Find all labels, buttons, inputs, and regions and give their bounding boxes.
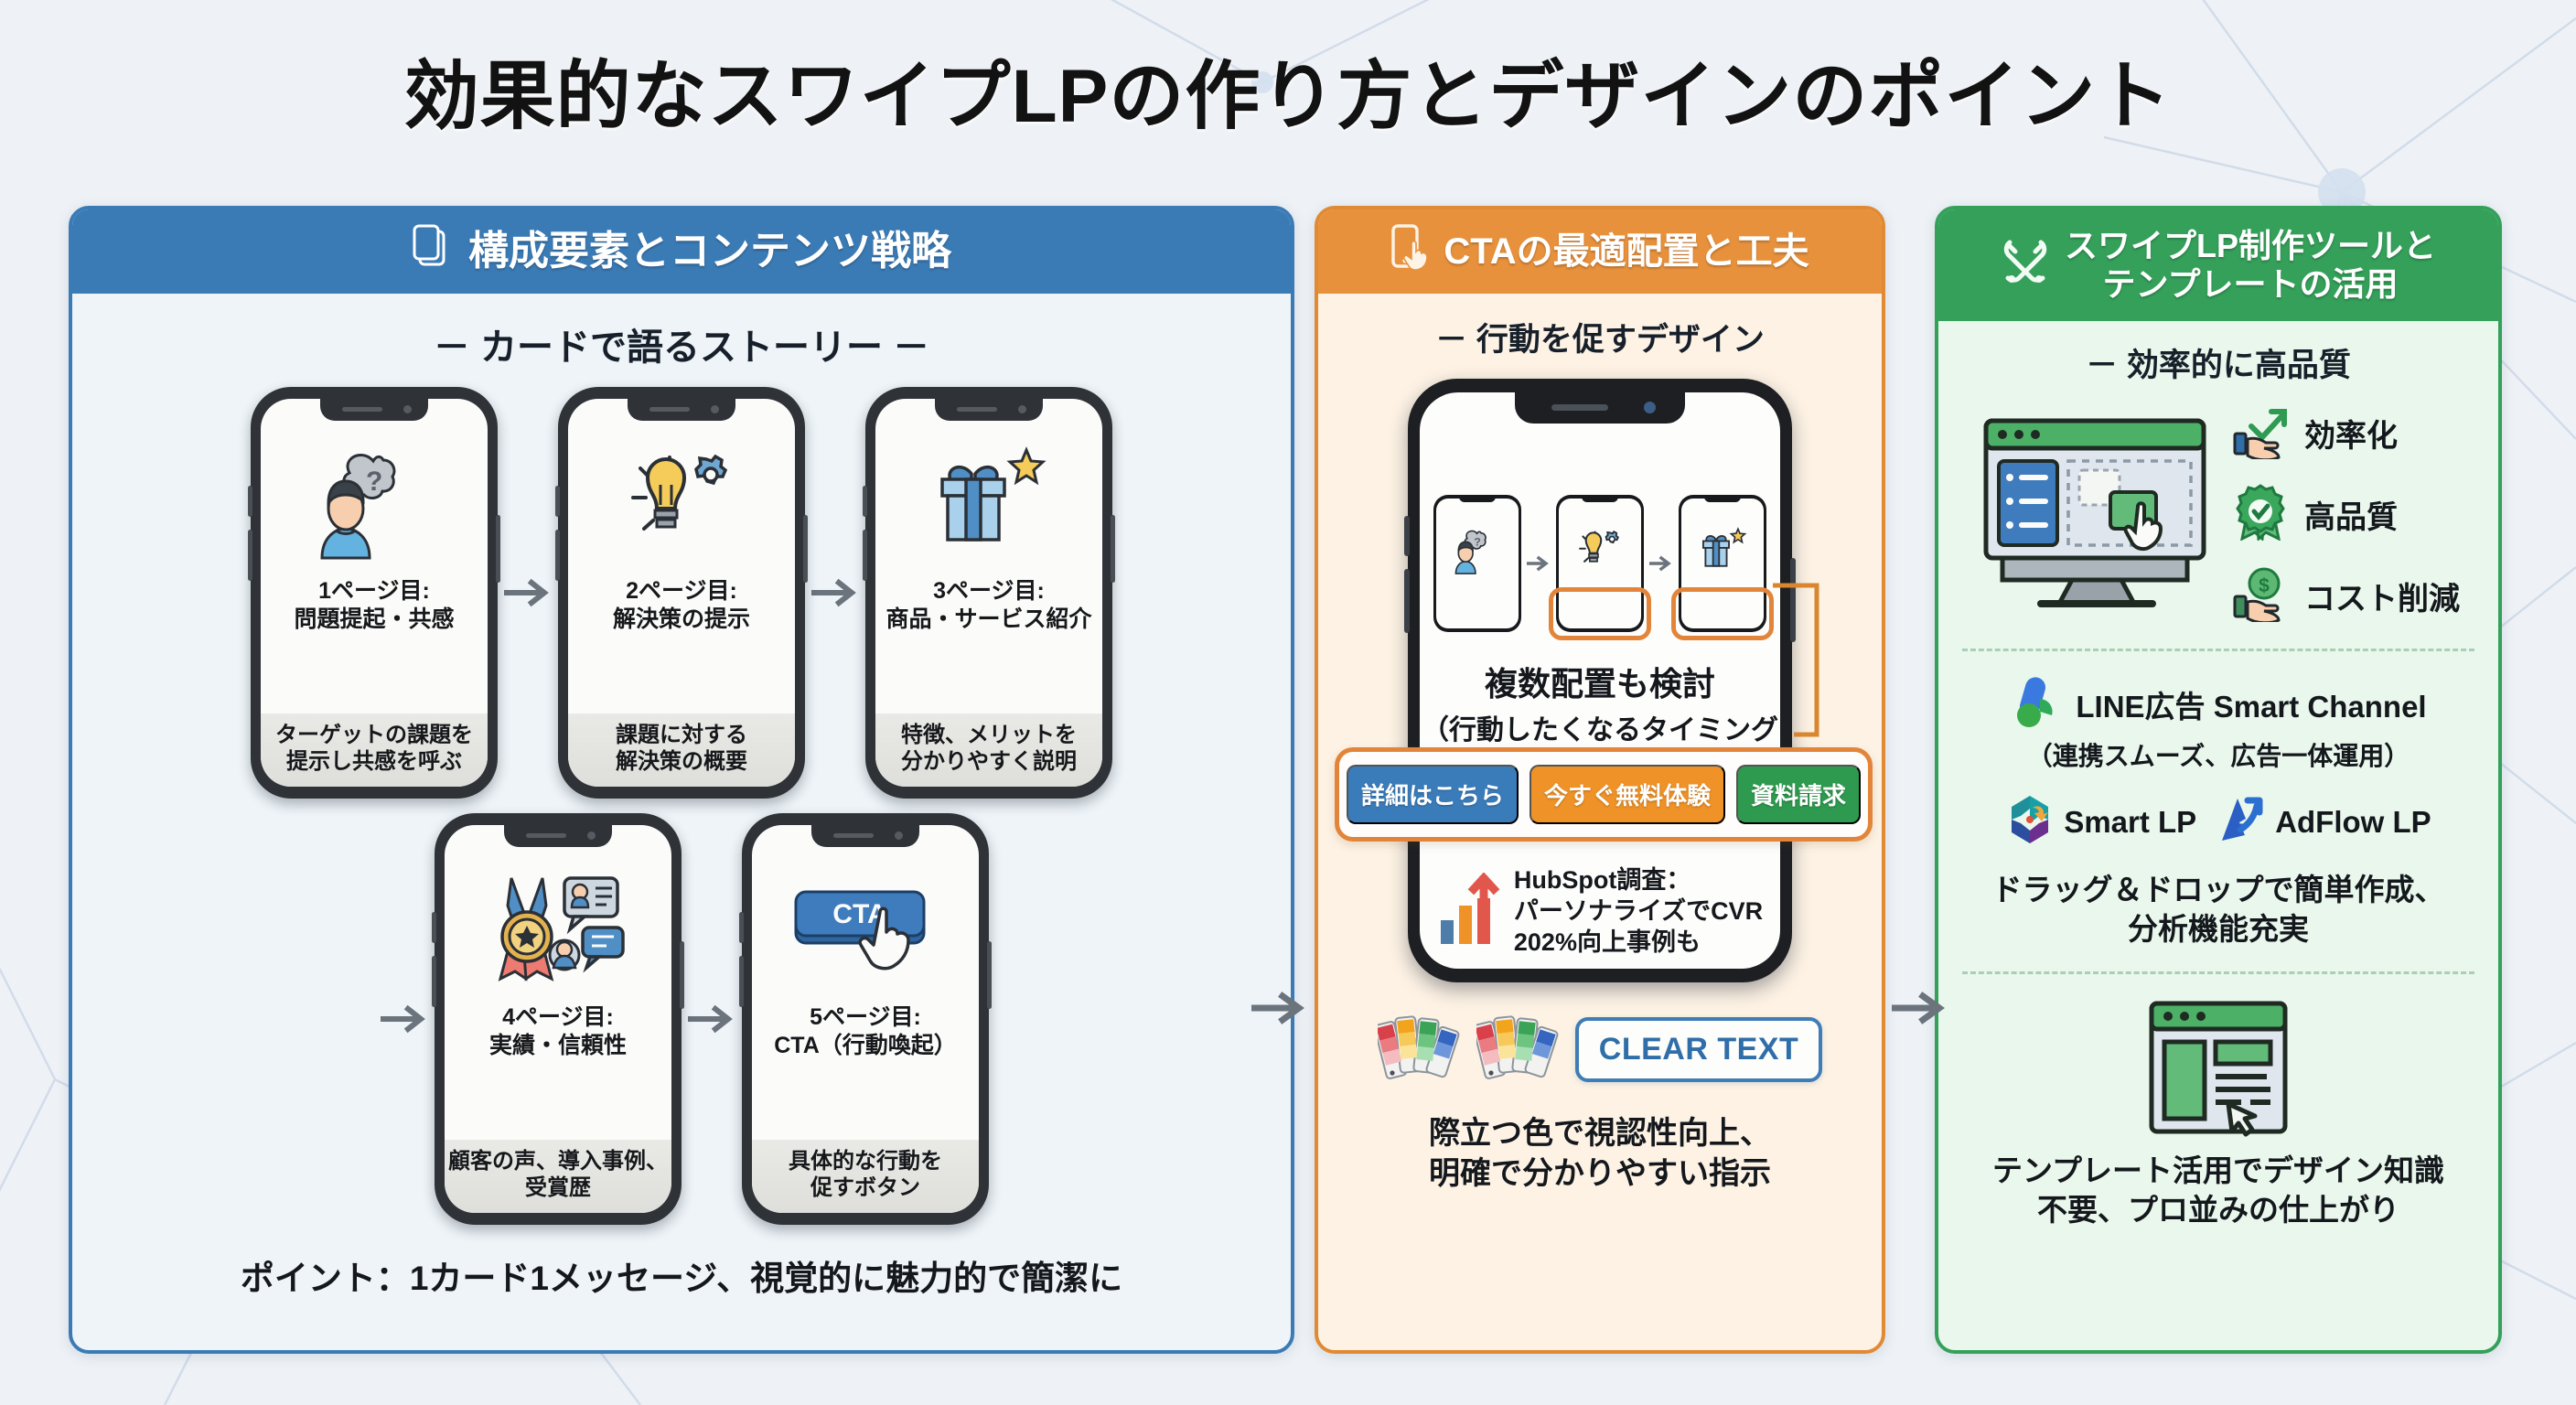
panel3-bottom-section: テンプレート活用でデザイン知識 不要、プロ並みの仕上がり <box>1938 996 2498 1230</box>
arrow-card4-to-card5 <box>682 1003 742 1035</box>
mini-phone-notch <box>1459 495 1496 502</box>
brand-line-sub: （連携スムーズ、広告一体運用） <box>1938 736 2498 773</box>
mini-card-1[interactable]: ? <box>1433 495 1521 632</box>
card-page5-caption: 具体的な行動を 促すボタン <box>752 1140 979 1214</box>
phone-button-left-top <box>1404 516 1410 556</box>
template-page-icon <box>1938 996 2498 1142</box>
panel2-header-label: CTAの最適配置と工夫 <box>1444 231 1809 273</box>
cta-button-cursor-icon: CTA <box>752 825 979 1003</box>
cta-button-request-docs[interactable]: 資料請求 <box>1736 765 1861 824</box>
card-page4[interactable]: 4ページ目: 実績・信頼性 顧客の声、導入事例、 受賞歴 <box>435 813 682 1225</box>
mini-phone-notch <box>1582 495 1618 502</box>
panel1-subtitle: － カードで語るストーリー － <box>72 317 1291 370</box>
hand-arrow-up-icon <box>2233 402 2293 464</box>
phone-button-left-top <box>555 486 560 517</box>
phone-button-right <box>1111 515 1115 583</box>
card-page3-title: 3ページ目: 商品・サービス紹介 <box>875 577 1102 713</box>
brand-smart-lp: Smart LP <box>2005 793 2196 851</box>
color-swatch-icon-2 <box>1476 1008 1561 1091</box>
phone-notch <box>504 825 612 847</box>
brand-line-icon: LINE広告 Smart Channel <box>1938 673 2498 735</box>
phone-button-right <box>680 941 684 1009</box>
arrow-card2-to-card3 <box>805 577 865 608</box>
cta-buttons-card: 詳細はこちら 今すぐ無料体験 資料請求 <box>1335 747 1873 842</box>
tools-wrench-icon <box>2001 235 2050 296</box>
phone-notch <box>811 825 919 847</box>
phone-button-right <box>987 941 992 1009</box>
gift-star-icon <box>1681 499 1764 600</box>
phone-button-left-top <box>863 486 867 517</box>
brand-smart-lp-name: Smart LP <box>2064 805 2196 840</box>
person-thinking-icon: ? <box>1436 499 1519 600</box>
arrow-mini1-to-mini2 <box>1525 555 1552 572</box>
panel3-template-note: テンプレート活用でデザイン知識 不要、プロ並みの仕上がり <box>1938 1152 2498 1230</box>
panel3-divider-1 <box>1962 649 2474 651</box>
cta-button-free-trial[interactable]: 今すぐ無料体験 <box>1529 765 1725 824</box>
panel2-header: CTAの最適配置と工夫 <box>1318 209 1882 294</box>
swatch-and-cleartext-row: CLEAR TEXT <box>1318 1008 1882 1091</box>
arrow-card1-to-card2 <box>498 577 558 608</box>
brand-row-2: Smart LP AdFlow LP <box>1938 793 2498 851</box>
phone-button-left-top <box>248 486 252 517</box>
panel3-header-label: スワイプLP制作ツールと テンプレートの活用 <box>2065 227 2436 304</box>
panel2-body: － 行動を促すデザイン <box>1318 314 1882 1194</box>
brand-line-name: LINE広告 Smart Channel <box>2076 682 2426 726</box>
phone-button-left-bottom <box>555 530 560 581</box>
panel-tools-templates: スワイプLP制作ツールと テンプレートの活用 － 効率的に高品質 <box>1935 206 2502 1354</box>
phone-button-left-bottom <box>248 530 252 581</box>
cards-stack-icon <box>412 223 454 279</box>
arrow-card3-to-card4 <box>374 1003 435 1035</box>
card-page1[interactable]: ? 1ページ目: 問題提起・共感 <box>251 387 498 799</box>
clear-text-badge: CLEAR TEXT <box>1575 1017 1822 1082</box>
phone-button-left-bottom <box>739 956 744 1007</box>
hand-coin-icon: $ <box>2233 565 2293 627</box>
phone-mockup-cta: ? <box>1408 379 1792 982</box>
panel1-cards-row-2: 4ページ目: 実績・信頼性 顧客の声、導入事例、 受賞歴 <box>72 813 1291 1225</box>
phone-notch <box>1515 392 1685 424</box>
benefit-cost-reduction: $ コスト削減 <box>2233 565 2460 627</box>
panel1-cards-row-1: ? 1ページ目: 問題提起・共感 <box>72 387 1291 799</box>
lightbulb-gear-icon <box>568 399 795 577</box>
card-page2[interactable]: 2ページ目: 解決策の提示 課題に対する 解決策の概要 <box>558 387 805 799</box>
hubspot-stat-text: HubSpot調査： パーソナライズでCVR 202%向上事例も <box>1514 864 1763 958</box>
panel3-subtitle: － 効率的に高品質 <box>1938 339 2498 386</box>
svg-text:$: $ <box>2259 575 2270 596</box>
phone-button-left-bottom <box>1404 569 1410 633</box>
hubspot-stat: HubSpot調査： パーソナライズでCVR 202%向上事例も <box>1420 864 1780 958</box>
phone-button-left-bottom <box>863 530 867 581</box>
line-ads-icon <box>2010 673 2063 735</box>
arrow-panel1-to-panel2 <box>1251 988 1308 1033</box>
card-page2-caption: 課題に対する 解決策の概要 <box>568 713 795 788</box>
phone-button-left-bottom <box>432 956 436 1007</box>
phone-notch <box>935 399 1043 421</box>
adflow-lp-icon <box>2216 793 2266 851</box>
panel1-footer-note: ポイント：1カード1メッセージ、視覚的に魅力的で簡潔に <box>72 1250 1291 1300</box>
svg-text:?: ? <box>1474 535 1481 548</box>
card-page3[interactable]: 3ページ目: 商品・サービス紹介 特徴、メリットを 分かりやすく説明 <box>865 387 1112 799</box>
card-page1-title: 1ページ目: 問題提起・共感 <box>261 577 488 713</box>
benefit-quality: 高品質 <box>2233 484 2460 545</box>
panel3-top-row: 効率化 高品質 <box>1938 402 2498 627</box>
panel2-bottom-section: CLEAR TEXT 際立つ色で視認性向上、 明確で分かりやすい指示 <box>1318 1008 1882 1194</box>
panel3-header: スワイプLP制作ツールと テンプレートの活用 <box>1938 209 2498 321</box>
panels-container: 構成要素とコンテンツ戦略 － カードで語るストーリー － ? <box>0 206 2576 1386</box>
arrow-panel2-to-panel3 <box>1892 988 1948 1033</box>
panel-structure-content-strategy: 構成要素とコンテンツ戦略 － カードで語るストーリー － ? <box>69 206 1294 1354</box>
benefit-cost-label: コスト削減 <box>2304 574 2460 618</box>
panel1-header-label: 構成要素とコンテンツ戦略 <box>468 228 951 274</box>
phone-notch <box>628 399 735 421</box>
page-title: 効果的なスワイプLPの作り方とデザインのポイント <box>0 35 2576 144</box>
card-page4-caption: 顧客の声、導入事例、 受賞歴 <box>445 1140 671 1214</box>
benefit-quality-label: 高品質 <box>2304 492 2398 537</box>
panel3-body: － 効率的に高品質 <box>1938 339 2498 1230</box>
panel2-subtitle: － 行動を促すデザイン <box>1318 314 1882 360</box>
card-page5-title: 5ページ目: CTA（行動喚起） <box>752 1003 979 1140</box>
card-page4-title: 4ページ目: 実績・信頼性 <box>445 1003 671 1140</box>
card-page5[interactable]: CTA 5ページ目: CTA（行動喚起） 具体的な行動を 促すボタン <box>742 813 989 1225</box>
color-swatch-icon <box>1378 1008 1462 1091</box>
mini-phone-notch <box>1704 495 1741 502</box>
phone-button-right <box>803 515 808 583</box>
quality-badge-icon <box>2233 484 2293 545</box>
panel2-bottom-note: 際立つ色で視認性向上、 明確で分かりやすい指示 <box>1318 1113 1882 1194</box>
smart-lp-icon <box>2005 793 2055 851</box>
phone-button-left-top <box>432 912 436 943</box>
panel-cta-placement: CTAの最適配置と工夫 － 行動を促すデザイン <box>1315 206 1885 1354</box>
svg-text:?: ? <box>366 467 382 497</box>
brand-adflow-lp-name: AdFlow LP <box>2275 805 2431 840</box>
phone-tap-icon <box>1390 223 1429 280</box>
phone-button-right <box>1790 558 1796 642</box>
phone-button-right <box>496 515 500 583</box>
drag-drop-builder-icon <box>1977 413 2216 616</box>
benefits-list: 効率化 高品質 <box>2233 402 2460 627</box>
medal-testimonial-icon <box>445 825 671 1003</box>
benefit-efficiency: 効率化 <box>2233 402 2460 464</box>
mini-card-2[interactable] <box>1556 495 1644 632</box>
phone-notch <box>320 399 428 421</box>
mini-card-3[interactable] <box>1679 495 1766 632</box>
panel1-header: 構成要素とコンテンツ戦略 <box>72 209 1291 294</box>
gift-star-icon <box>875 399 1102 577</box>
bar-chart-up-icon <box>1437 873 1501 950</box>
phone-button-left-top <box>739 912 744 943</box>
card-page1-caption: ターゲットの課題を 提示し共感を呼ぶ <box>261 713 488 788</box>
card-page2-title: 2ページ目: 解決策の提示 <box>568 577 795 713</box>
arrow-mini2-to-mini3 <box>1648 555 1675 572</box>
panel3-brand-note: ドラッグ＆ドロップで簡単作成、 分析機能充実 <box>1938 871 2498 949</box>
cta-button-details[interactable]: 詳細はこちら <box>1347 765 1519 824</box>
mini-cards-row: ? <box>1420 495 1780 632</box>
panel3-divider-2 <box>1962 971 2474 974</box>
panel1-body: － カードで語るストーリー － ? <box>72 317 1291 1300</box>
card-page3-caption: 特徴、メリットを 分かりやすく説明 <box>875 713 1102 788</box>
benefit-efficiency-label: 効率化 <box>2304 411 2398 456</box>
person-thinking-icon: ? <box>261 399 488 577</box>
brand-adflow-lp: AdFlow LP <box>2216 793 2431 851</box>
lightbulb-gear-icon <box>1559 499 1641 600</box>
